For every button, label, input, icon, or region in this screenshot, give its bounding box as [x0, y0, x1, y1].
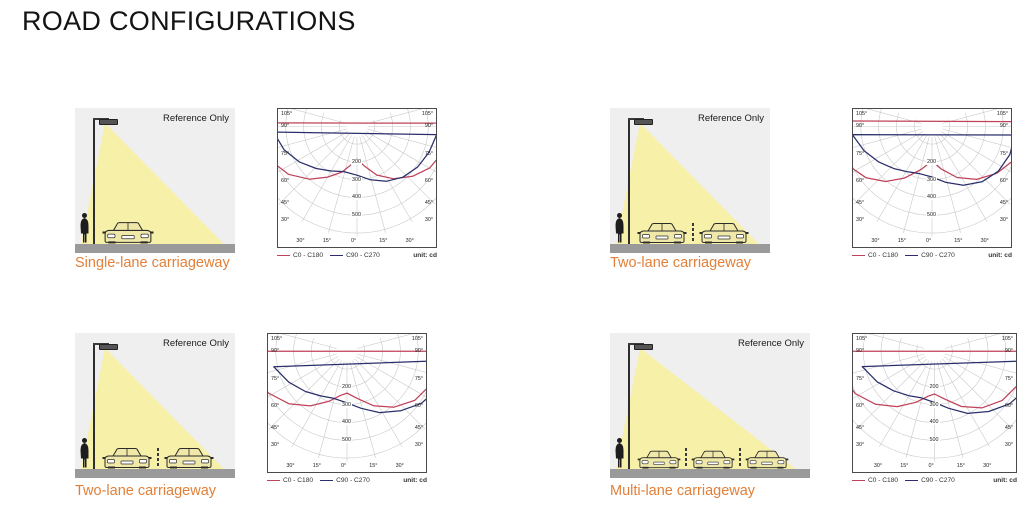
panel-caption-two-lane-top: Two-lane carriageway	[610, 255, 751, 271]
radial-label: 300	[351, 177, 362, 183]
angle-label-left: 105°	[271, 336, 282, 342]
angle-label-right: 60°	[415, 403, 423, 409]
radial-label: 400	[929, 419, 940, 425]
angle-label-bottom: 30°	[983, 463, 991, 469]
legend-c0-c180[interactable]: C0 - C180	[852, 477, 898, 484]
radial-label: 400	[926, 194, 937, 200]
legend-c90-c270-label: C90 - C270	[921, 477, 955, 484]
lane-divider	[739, 448, 741, 468]
chart-plot-area: 105°105°90°90°75°75°60°60°45°45°30°30°30…	[277, 108, 437, 248]
angle-label-left: 30°	[281, 217, 289, 223]
angle-label-right: 75°	[415, 376, 423, 382]
angle-label-left: 30°	[856, 442, 864, 448]
angle-label-bottom: 0°	[341, 463, 346, 469]
angle-label-left: 60°	[856, 178, 864, 184]
radial-label: 200	[341, 384, 352, 390]
car-icon	[691, 449, 735, 469]
legend-c90-c270-swatch	[905, 255, 918, 257]
road-surface	[75, 244, 235, 253]
chart-legend: C0 - C180C90 - C270unit: cd	[852, 252, 1012, 259]
luminaire-head	[634, 344, 653, 350]
angle-label-right: 60°	[1005, 403, 1013, 409]
lamp-pole	[93, 343, 95, 469]
legend-c90-c270[interactable]: C90 - C270	[905, 252, 955, 259]
car-icon	[699, 221, 749, 244]
legend-c0-c180-label: C0 - C180	[868, 477, 898, 484]
angle-label-right: 45°	[1005, 425, 1013, 431]
legend-c90-c270[interactable]: C90 - C270	[320, 477, 370, 484]
angle-label-right: 60°	[1000, 178, 1008, 184]
road-scene-two-lane-bottom: Reference Only	[75, 333, 235, 478]
angle-label-left: 105°	[281, 111, 292, 117]
lamp-pole	[628, 118, 630, 244]
legend-c0-c180-label: C0 - C180	[293, 252, 323, 259]
car-icon	[637, 221, 687, 244]
angle-label-left: 75°	[856, 151, 864, 157]
luminaire-head	[99, 344, 118, 350]
radial-label: 500	[351, 212, 362, 218]
legend-c90-c270-swatch	[905, 480, 918, 482]
angle-label-left: 105°	[856, 111, 867, 117]
legend-c0-c180[interactable]: C0 - C180	[267, 477, 313, 484]
angle-label-bottom: 15°	[323, 238, 331, 244]
radial-label: 200	[351, 159, 362, 165]
legend-c0-c180[interactable]: C0 - C180	[277, 252, 323, 259]
radial-label: 400	[351, 194, 362, 200]
legend-unit-label: unit: cd	[988, 252, 1012, 259]
luminaire-head	[634, 119, 653, 125]
radial-label: 200	[926, 159, 937, 165]
reference-only-label: Reference Only	[163, 338, 229, 349]
legend-c0-c180[interactable]: C0 - C180	[852, 252, 898, 259]
angle-label-left: 75°	[271, 376, 279, 382]
road-surface	[75, 469, 235, 478]
legend-unit-label: unit: cd	[413, 252, 437, 259]
radial-label: 400	[341, 419, 352, 425]
reference-only-label: Reference Only	[738, 338, 804, 349]
angle-label-right: 45°	[415, 425, 423, 431]
polar-chart-multi-lane: 105°105°90°90°75°75°60°60°45°45°30°30°30…	[852, 333, 1017, 491]
chart-plot-area: 105°105°90°90°75°75°60°60°45°45°30°30°30…	[852, 333, 1017, 473]
angle-label-bottom: 30°	[286, 463, 294, 469]
angle-label-right: 30°	[1005, 442, 1013, 448]
car-icon	[637, 449, 681, 469]
reference-only-label: Reference Only	[163, 113, 229, 124]
angle-label-left: 90°	[271, 348, 279, 354]
legend-c0-c180-swatch	[852, 480, 865, 482]
legend-c90-c270[interactable]: C90 - C270	[905, 477, 955, 484]
chart-plot-area: 105°105°90°90°75°75°60°60°45°45°30°30°30…	[267, 333, 427, 473]
angle-label-left: 90°	[856, 123, 864, 129]
angle-label-right: 30°	[415, 442, 423, 448]
polar-chart-single-lane: 105°105°90°90°75°75°60°60°45°45°30°30°30…	[277, 108, 437, 266]
radial-label: 500	[926, 212, 937, 218]
legend-unit-label: unit: cd	[403, 477, 427, 484]
reference-only-label: Reference Only	[698, 113, 764, 124]
legend-c90-c270-label: C90 - C270	[346, 252, 380, 259]
polar-chart-two-lane-bottom: 105°105°90°90°75°75°60°60°45°45°30°30°30…	[267, 333, 427, 491]
legend-c90-c270-label: C90 - C270	[336, 477, 370, 484]
angle-label-left: 90°	[856, 348, 864, 354]
car-icon	[102, 220, 154, 244]
pedestrian-silhouette	[614, 212, 625, 244]
angle-label-bottom: 30°	[396, 463, 404, 469]
angle-label-right: 90°	[1005, 348, 1013, 354]
angle-label-right: 75°	[1000, 151, 1008, 157]
chart-legend: C0 - C180C90 - C270unit: cd	[852, 477, 1017, 484]
radial-label: 200	[929, 384, 940, 390]
angle-label-bottom: 15°	[954, 238, 962, 244]
road-surface	[610, 244, 770, 253]
angle-label-right: 75°	[1005, 376, 1013, 382]
pedestrian-silhouette	[79, 437, 90, 469]
chart-legend: C0 - C180C90 - C270unit: cd	[277, 252, 437, 259]
angle-label-bottom: 30°	[406, 238, 414, 244]
chart-legend: C0 - C180C90 - C270unit: cd	[267, 477, 427, 484]
angle-label-right: 105°	[422, 111, 433, 117]
legend-c0-c180-label: C0 - C180	[868, 252, 898, 259]
angle-label-right: 105°	[997, 111, 1008, 117]
legend-c90-c270-swatch	[320, 480, 333, 482]
panel-caption-single-lane: Single-lane carriageway	[75, 255, 230, 271]
lamp-pole	[628, 343, 630, 469]
car-icon	[164, 446, 214, 469]
panel-caption-multi-lane: Multi-lane carriageway	[610, 483, 755, 499]
angle-label-bottom: 15°	[369, 463, 377, 469]
angle-label-left: 60°	[281, 178, 289, 184]
pedestrian-silhouette	[79, 212, 90, 244]
legend-c0-c180-label: C0 - C180	[283, 477, 313, 484]
angle-label-right: 30°	[425, 217, 433, 223]
angle-label-left: 75°	[856, 376, 864, 382]
angle-label-left: 45°	[856, 200, 864, 206]
lane-divider	[692, 223, 694, 243]
legend-c90-c270[interactable]: C90 - C270	[330, 252, 380, 259]
angle-label-right: 105°	[1002, 336, 1013, 342]
angle-label-bottom: 30°	[874, 463, 882, 469]
angle-label-left: 105°	[856, 336, 867, 342]
angle-label-right: 60°	[425, 178, 433, 184]
angle-label-left: 90°	[281, 123, 289, 129]
angle-label-left: 45°	[856, 425, 864, 431]
angle-label-right: 90°	[1000, 123, 1008, 129]
lamp-pole	[93, 118, 95, 244]
road-scene-single-lane: Reference Only	[75, 108, 235, 253]
angle-label-bottom: 15°	[900, 463, 908, 469]
angle-label-bottom: 15°	[957, 463, 965, 469]
angle-label-right: 105°	[412, 336, 423, 342]
angle-label-left: 60°	[856, 403, 864, 409]
legend-unit-label: unit: cd	[993, 477, 1017, 484]
angle-label-bottom: 30°	[981, 238, 989, 244]
road-scene-multi-lane: Reference Only	[610, 333, 810, 478]
angle-label-right: 90°	[415, 348, 423, 354]
lane-divider	[685, 448, 687, 468]
legend-c0-c180-swatch	[277, 255, 290, 257]
angle-label-bottom: 0°	[929, 463, 934, 469]
road-surface	[610, 469, 810, 478]
radial-label: 300	[929, 402, 940, 408]
radial-label: 300	[341, 402, 352, 408]
angle-label-bottom: 30°	[296, 238, 304, 244]
angle-label-bottom: 15°	[379, 238, 387, 244]
angle-label-left: 75°	[281, 151, 289, 157]
chart-plot-area: 105°105°90°90°75°75°60°60°45°45°30°30°30…	[852, 108, 1012, 248]
car-icon	[745, 449, 789, 469]
angle-label-bottom: 0°	[351, 238, 356, 244]
angle-label-left: 45°	[281, 200, 289, 206]
angle-label-right: 45°	[425, 200, 433, 206]
page-title: ROAD CONFIGURATIONS	[22, 6, 356, 37]
angle-label-left: 45°	[271, 425, 279, 431]
polar-chart-two-lane-top: 105°105°90°90°75°75°60°60°45°45°30°30°30…	[852, 108, 1012, 266]
angle-label-left: 30°	[856, 217, 864, 223]
angle-label-left: 30°	[271, 442, 279, 448]
light-cone	[75, 108, 235, 253]
angle-label-left: 60°	[271, 403, 279, 409]
legend-c90-c270-label: C90 - C270	[921, 252, 955, 259]
pedestrian-silhouette	[614, 437, 625, 469]
road-scene-two-lane-top: Reference Only	[610, 108, 770, 253]
radial-label: 500	[341, 437, 352, 443]
panel-caption-two-lane-bottom: Two-lane carriageway	[75, 483, 216, 499]
luminaire-head	[99, 119, 118, 125]
radial-label: 500	[929, 437, 940, 443]
angle-label-bottom: 0°	[926, 238, 931, 244]
lane-divider	[157, 448, 159, 468]
angle-label-right: 30°	[1000, 217, 1008, 223]
legend-c90-c270-swatch	[330, 255, 343, 257]
car-icon	[102, 446, 152, 469]
legend-c0-c180-swatch	[267, 480, 280, 482]
angle-label-right: 75°	[425, 151, 433, 157]
legend-c0-c180-swatch	[852, 255, 865, 257]
angle-label-right: 45°	[1000, 200, 1008, 206]
angle-label-bottom: 15°	[313, 463, 321, 469]
angle-label-bottom: 30°	[871, 238, 879, 244]
angle-label-right: 90°	[425, 123, 433, 129]
angle-label-bottom: 15°	[898, 238, 906, 244]
radial-label: 300	[926, 177, 937, 183]
